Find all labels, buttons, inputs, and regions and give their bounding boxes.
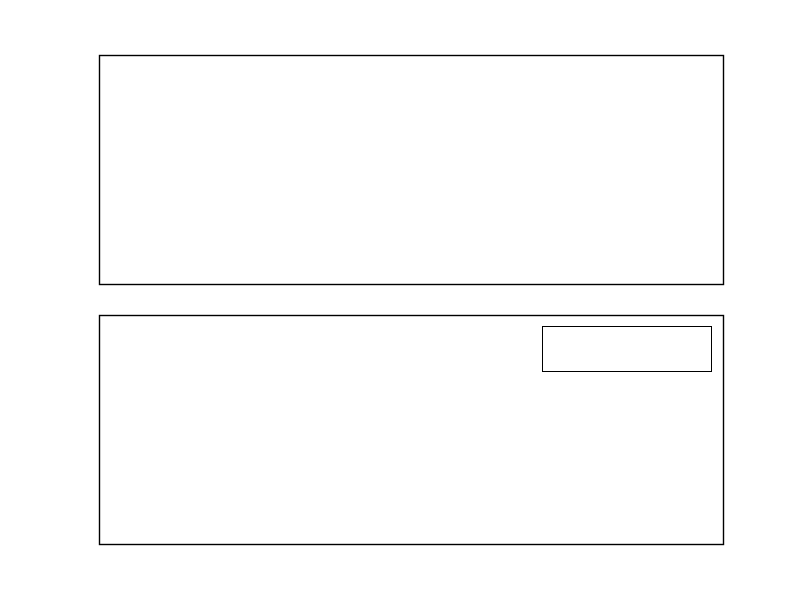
bottom-panel-plot-area: [0, 0, 800, 600]
legend[interactable]: [542, 326, 712, 372]
legend-dash-sample: [553, 327, 613, 371]
top-panel-frame: [100, 56, 724, 285]
top-panel-plot-area: [0, 0, 800, 600]
figure-canvas: [0, 0, 800, 600]
